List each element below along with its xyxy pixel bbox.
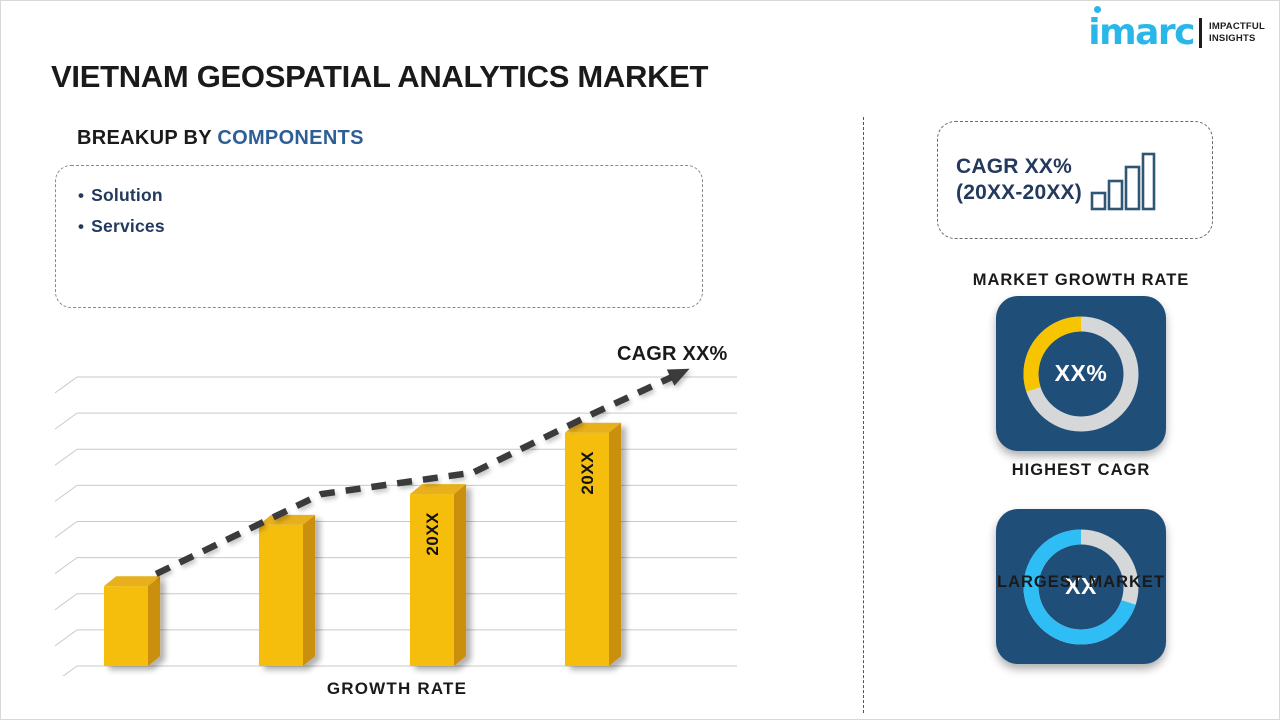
logo-tagline-line2: INSIGHTS — [1209, 33, 1265, 45]
components-list-box: Solution Services — [55, 165, 703, 308]
vertical-divider — [863, 117, 864, 713]
highest-cagr-label: HIGHEST CAGR — [901, 461, 1261, 480]
market-growth-rate-label: MARKET GROWTH RATE — [901, 271, 1261, 290]
largest-market-label: LARGEST MARKET — [901, 573, 1261, 592]
cagr-value-line: CAGR XX% — [956, 154, 1082, 180]
bar — [104, 576, 160, 666]
ascending-bars-icon — [1090, 151, 1156, 216]
highest-cagr-value: XX% — [1055, 360, 1108, 387]
logo-tagline: IMPACTFUL INSIGHTS — [1209, 21, 1265, 45]
cagr-annotation: CAGR XX% — [617, 343, 728, 366]
imarc-logo: imarc IMPACTFUL INSIGHTS — [1088, 13, 1265, 53]
bar — [259, 515, 315, 666]
slide-canvas: imarc IMPACTFUL INSIGHTS VIETNAM GEOSPAT… — [0, 0, 1280, 720]
logo-wordmark: imarc — [1088, 15, 1194, 51]
highest-cagr-card: XX% — [996, 296, 1166, 451]
page-title: VIETNAM GEOSPATIAL ANALYTICS MARKET — [51, 59, 708, 95]
logo-wordmark-text: imarc — [1088, 12, 1194, 53]
breakup-heading-prefix: BREAKUP BY — [77, 127, 217, 149]
logo-tagline-line1: IMPACTFUL — [1209, 21, 1265, 33]
list-item: Services — [78, 211, 702, 242]
cagr-summary-card: CAGR XX% (20XX-20XX) — [937, 121, 1213, 239]
chart-svg — [47, 331, 767, 676]
logo-divider-bar — [1199, 18, 1202, 48]
breakup-heading-accent: COMPONENTS — [217, 127, 363, 149]
bar-value-label: 20XX — [423, 512, 443, 556]
bar-value-label: 20XX — [578, 451, 598, 495]
kpi-panel: CAGR XX% (20XX-20XX) MARKET GROWTH RATE … — [901, 111, 1261, 711]
breakup-heading: BREAKUP BY COMPONENTS — [77, 127, 364, 150]
cagr-summary-text: CAGR XX% (20XX-20XX) — [956, 154, 1082, 205]
cagr-period-line: (20XX-20XX) — [956, 180, 1082, 206]
list-item: Solution — [78, 180, 702, 211]
chart-x-axis-label: GROWTH RATE — [47, 679, 747, 699]
growth-rate-bar-chart: CAGR XX% 20XX 20XX GROWTH RATE — [47, 331, 767, 691]
